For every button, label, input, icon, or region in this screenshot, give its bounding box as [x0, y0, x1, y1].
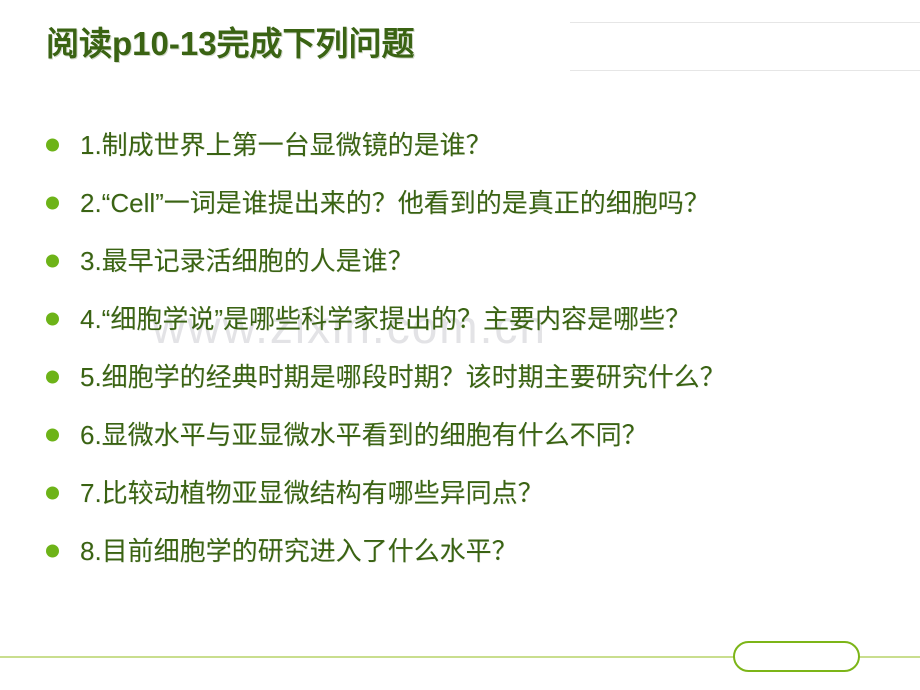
list-item: 1.制成世界上第一台显微镜的是谁？ [0, 116, 920, 174]
question-text: 7.比较动植物亚显微结构有哪些异同点？ [80, 477, 544, 510]
question-text: 6.显微水平与亚显微水平看到的细胞有什么不同？ [80, 419, 648, 452]
header-rule-bottom [570, 70, 920, 71]
bullet-dot-icon [46, 371, 59, 384]
list-item: 8.目前细胞学的研究进入了什么水平？ [0, 522, 920, 580]
question-text: 8.目前细胞学的研究进入了什么水平？ [80, 535, 518, 568]
page-title: 阅读p10-13完成下列问题 [46, 24, 415, 64]
list-item: 3.最早记录活细胞的人是谁？ [0, 232, 920, 290]
bullet-dot-icon [46, 139, 59, 152]
header-rule-top [570, 22, 920, 23]
question-text: 3.最早记录活细胞的人是谁？ [80, 245, 414, 278]
list-item: 5.细胞学的经典时期是哪段时期？该时期主要研究什么？ [0, 348, 920, 406]
question-text: 5.细胞学的经典时期是哪段时期？该时期主要研究什么？ [80, 361, 726, 394]
question-text: 1.制成世界上第一台显微镜的是谁？ [80, 129, 492, 162]
bullet-dot-icon [46, 429, 59, 442]
question-text: 2.“Cell”一词是谁提出来的？他看到的是真正的细胞吗？ [80, 187, 710, 220]
bullet-dot-icon [46, 313, 59, 326]
question-text: 4.“细胞学说”是哪些科学家提出的？主要内容是哪些？ [80, 303, 691, 336]
bullet-dot-icon [46, 255, 59, 268]
list-item: 6.显微水平与亚显微水平看到的细胞有什么不同？ [0, 406, 920, 464]
slide-canvas: 阅读p10-13完成下列问题 www.zixin.com.cn 1.制成世界上第… [0, 0, 920, 690]
question-list: 1.制成世界上第一台显微镜的是谁？ 2.“Cell”一词是谁提出来的？他看到的是… [0, 116, 920, 580]
bullet-dot-icon [46, 487, 59, 500]
bullet-dot-icon [46, 197, 59, 210]
list-item: 2.“Cell”一词是谁提出来的？他看到的是真正的细胞吗？ [0, 174, 920, 232]
list-item: 4.“细胞学说”是哪些科学家提出的？主要内容是哪些？ [0, 290, 920, 348]
list-item: 7.比较动植物亚显微结构有哪些异同点？ [0, 464, 920, 522]
footer-pill-shape [733, 641, 860, 672]
bullet-dot-icon [46, 545, 59, 558]
